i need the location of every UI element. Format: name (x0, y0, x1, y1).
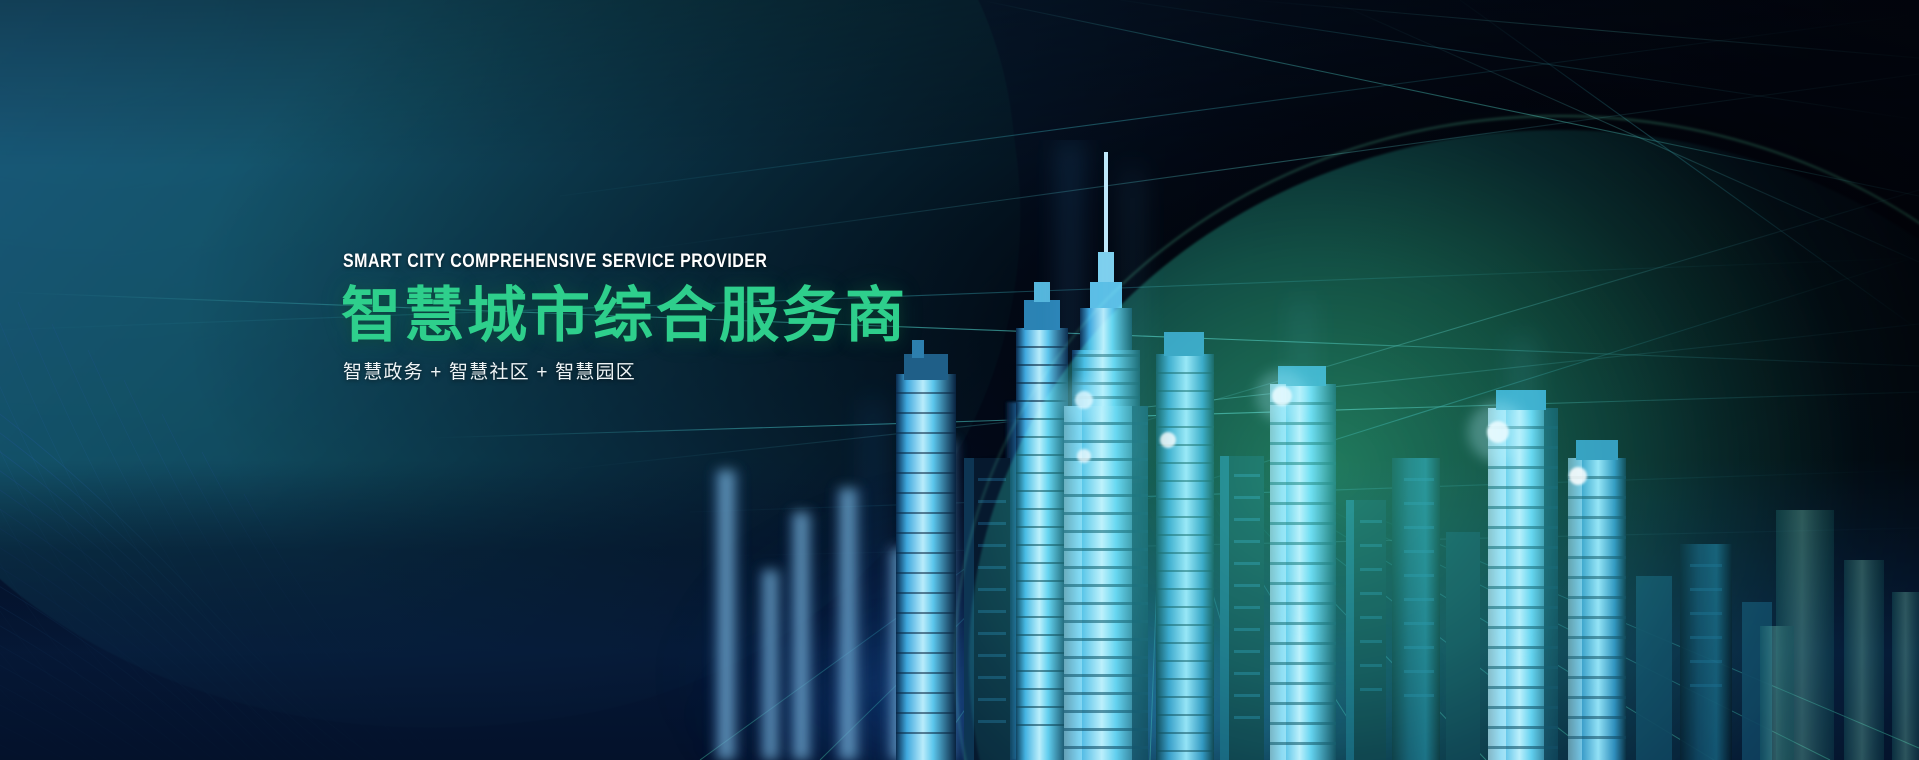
page-title: 智慧城市综合服务商 (341, 285, 1061, 347)
hero-text-block: SMART CITY COMPREHENSIVE SERVICE PROVIDE… (341, 252, 1061, 382)
smart-city-hero-banner: SMART CITY COMPREHENSIVE SERVICE PROVIDE… (0, 0, 1919, 760)
subtitle-text: 智慧政务 + 智慧社区 + 智慧园区 (343, 363, 1061, 382)
eyebrow-text: SMART CITY COMPREHENSIVE SERVICE PROVIDE… (343, 252, 946, 271)
